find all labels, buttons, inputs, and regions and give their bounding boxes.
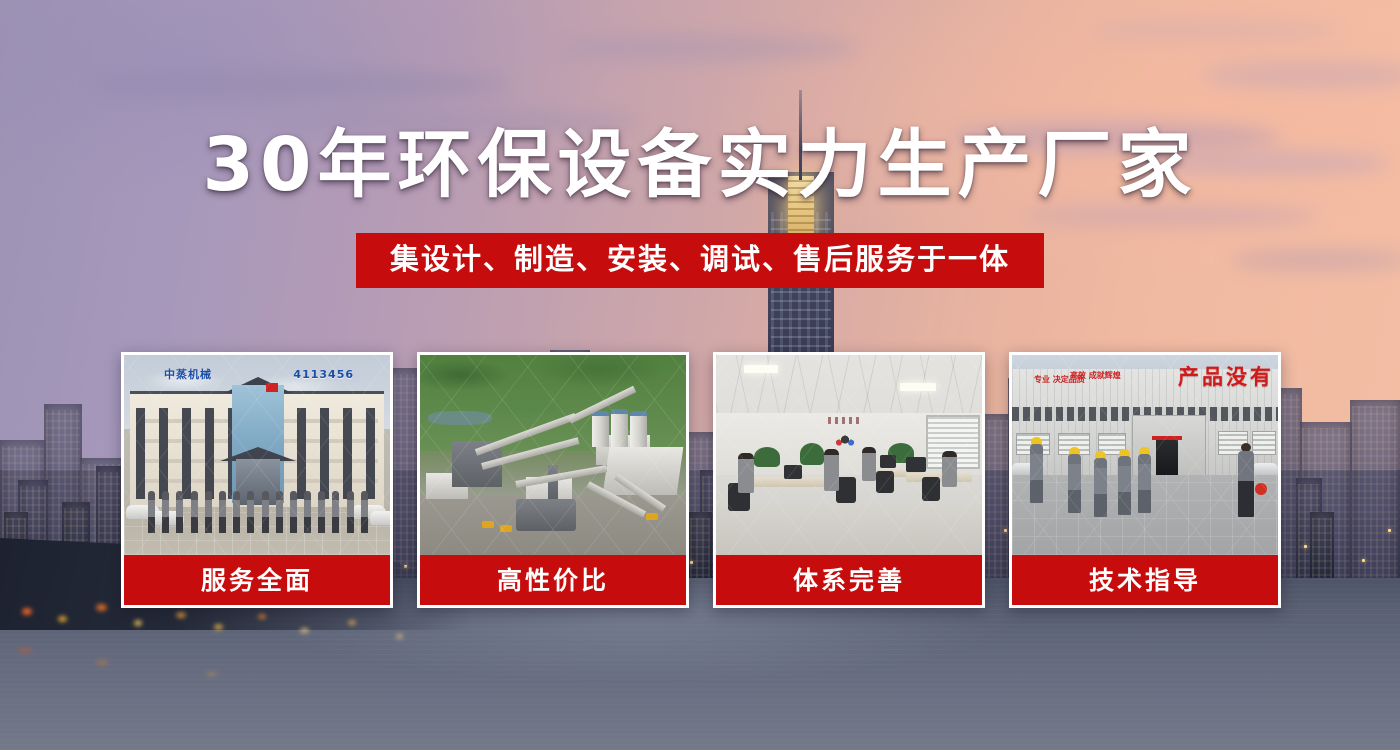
card-caption: 技术指导 (1012, 555, 1278, 605)
card-caption: 高性价比 (420, 555, 686, 605)
feature-card[interactable]: 高性价比 (417, 352, 689, 608)
building-sign-company: 中蒸机械 (164, 366, 212, 382)
page-title: 30年环保设备实力生产厂家 (0, 128, 1400, 202)
feature-card[interactable]: 产品没有 专业 决定品质 高效 成就辉煌 (1009, 352, 1281, 608)
feature-card[interactable]: 体系完善 (713, 352, 985, 608)
feature-card[interactable]: 中蒸机械 4113456 服务全面 (121, 352, 393, 608)
subtitle-banner-wrap: 集设计、制造、安装、调试、售后服务于一体 (0, 233, 1400, 288)
subtitle-banner: 集设计、制造、安装、调试、售后服务于一体 (356, 233, 1044, 288)
factory-wall-slogan: 产品没有 (1178, 361, 1274, 391)
promo-banner: 30年环保设备实力生产厂家 集设计、制造、安装、调试、售后服务于一体 中蒸机械 … (0, 0, 1400, 750)
feature-card-row: 中蒸机械 4113456 服务全面 (121, 352, 1281, 608)
building-sign-phone: 4113456 (293, 368, 354, 381)
red-helmet (1255, 483, 1267, 495)
card-caption: 体系完善 (716, 555, 982, 605)
aerial-plant-photo (420, 355, 686, 555)
wall-decoration (828, 421, 862, 451)
factory-wall-slogan-small-2: 高效 成就辉煌 (1070, 371, 1121, 381)
staff-lineup (148, 491, 368, 533)
office-interior-photo (716, 355, 982, 555)
supervisor-figure (1238, 443, 1254, 517)
factory-workers-photo: 产品没有 专业 决定品质 高效 成就辉煌 (1012, 355, 1278, 555)
building-signage: 中蒸机械 4113456 (164, 367, 354, 381)
company-headquarters-photo: 中蒸机械 4113456 (124, 355, 390, 555)
card-caption: 服务全面 (124, 555, 390, 605)
